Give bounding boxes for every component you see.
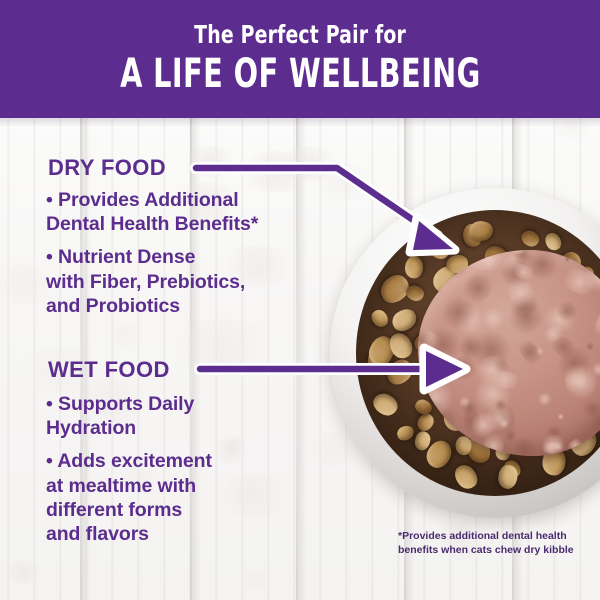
bullet-line: Hydration bbox=[46, 416, 346, 440]
wood-grain-blotch bbox=[237, 569, 278, 589]
bullet-line: Dental Health Benefits* bbox=[46, 212, 346, 236]
bullet-line: • Supports Daily bbox=[46, 392, 346, 416]
pate-texture bbox=[557, 412, 565, 422]
bullet-line: and flavors bbox=[46, 522, 346, 546]
kibble-piece bbox=[369, 306, 392, 329]
wood-grain-blotch bbox=[180, 146, 242, 177]
bullet-line: at mealtime with bbox=[46, 474, 346, 498]
header-dropshadow bbox=[0, 118, 600, 127]
pate-texture bbox=[590, 302, 600, 344]
pate-texture bbox=[564, 254, 570, 265]
kibble-piece bbox=[518, 228, 541, 250]
kibble-piece bbox=[451, 462, 482, 494]
callout-bullets-dry-food: • Provides Additional Dental Health Bene… bbox=[46, 188, 346, 318]
wood-grain-blotch bbox=[0, 561, 46, 584]
bullet-line: • Nutrient Dense bbox=[46, 245, 346, 269]
bullet-line: • Adds excitement bbox=[46, 449, 346, 473]
pate-texture bbox=[421, 289, 434, 297]
pate-texture bbox=[513, 434, 537, 456]
kibble-piece bbox=[395, 423, 416, 443]
food-bowl-image bbox=[330, 188, 600, 518]
bullet-line: • Provides Additional bbox=[46, 188, 346, 212]
callout-title-wet-food: WET FOOD bbox=[48, 357, 170, 383]
wood-grain-blotch bbox=[165, 319, 281, 377]
footnote-text: *Provides additional dental health benef… bbox=[398, 530, 598, 558]
callout-bullets-wet-food: • Supports Daily Hydration • Adds excite… bbox=[46, 392, 346, 546]
callout-title-dry-food: DRY FOOD bbox=[48, 155, 166, 181]
kibble-piece bbox=[369, 389, 401, 419]
header-title: A LIFE OF WELLBEING bbox=[120, 51, 481, 97]
kibble-piece bbox=[389, 305, 421, 335]
kibble-piece bbox=[468, 220, 493, 241]
bullet-line: different forms bbox=[46, 498, 346, 522]
infographic-canvas: The Perfect Pair for A LIFE OF WELLBEING… bbox=[0, 0, 600, 600]
bullet-line: with Fiber, Prebiotics, bbox=[46, 270, 346, 294]
header-subtitle: The Perfect Pair for bbox=[194, 21, 406, 49]
header-banner: The Perfect Pair for A LIFE OF WELLBEING bbox=[0, 0, 600, 118]
wood-grain-blotch bbox=[104, 325, 146, 346]
pate-texture bbox=[535, 392, 554, 407]
bullet-line: and Probiotics bbox=[46, 294, 346, 318]
